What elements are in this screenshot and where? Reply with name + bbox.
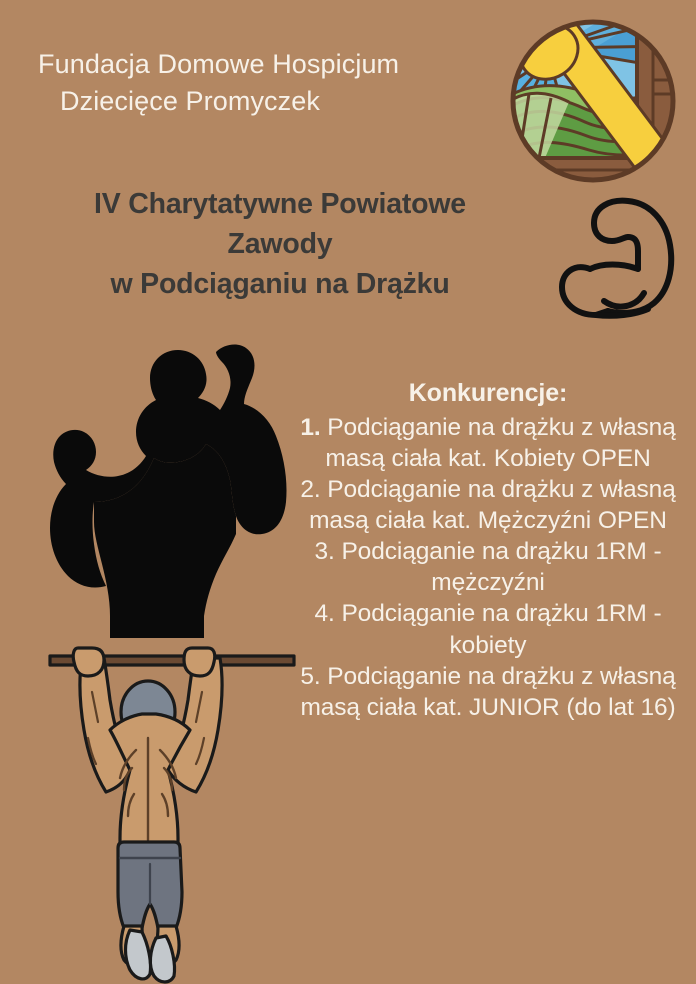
organisation-name-line1: Fundacja Domowe Hospicjum [38,49,399,79]
event-item-1: 1. Podciąganie na drążku z własną masą c… [288,412,688,474]
poster-title-line3: w Podciąganiu na Drążku [0,264,560,304]
pullup-athlete-illustration [44,642,300,984]
event-number-4: 4. [314,600,334,627]
event-text-3: Podciąganie na drążku 1RM - mężczyźni [341,538,661,596]
event-text-4: Podciąganie na drążku 1RM - kobiety [341,600,661,658]
organisation-name: Fundacja Domowe Hospicjum Dziecięce Prom… [38,46,478,121]
promyczek-logo-icon [505,18,681,184]
event-item-3: 3. Podciąganie na drążku 1RM - mężczyźni [288,536,688,598]
flexed-biceps-icon [558,193,690,321]
bodybuilder-silhouette [18,334,328,650]
event-item-4: 4. Podciąganie na drążku 1RM - kobiety [288,598,688,660]
poster-canvas: Fundacja Domowe Hospicjum Dziecięce Prom… [0,0,696,984]
event-number-5: 5. [300,663,320,690]
poster-title: IV Charytatywne Powiatowe Zawody w Podci… [0,184,560,305]
event-item-2: 2. Podciąganie na drążku z własną masą c… [288,474,688,536]
event-text-1: Podciąganie na drążku z własną masą ciał… [325,414,675,472]
poster-title-line1: IV Charytatywne Powiatowe [0,184,560,224]
event-text-2: Podciąganie na drążku z własną masą ciał… [309,476,676,534]
event-number-2: 2. [300,476,320,503]
poster-title-line2: Zawody [0,224,560,264]
event-text-5: Podciąganie na drążku z własną masą ciał… [300,663,675,721]
event-number-3: 3. [314,538,334,565]
event-item-5: 5. Podciąganie na drążku z własną masą c… [288,661,688,723]
event-number-1: 1. [300,414,320,441]
organisation-name-line2: Dziecięce Promyczek [38,83,478,120]
events-heading: Konkurencje: [288,378,688,410]
events-list: Konkurencje: 1. Podciąganie na drążku z … [288,378,688,723]
